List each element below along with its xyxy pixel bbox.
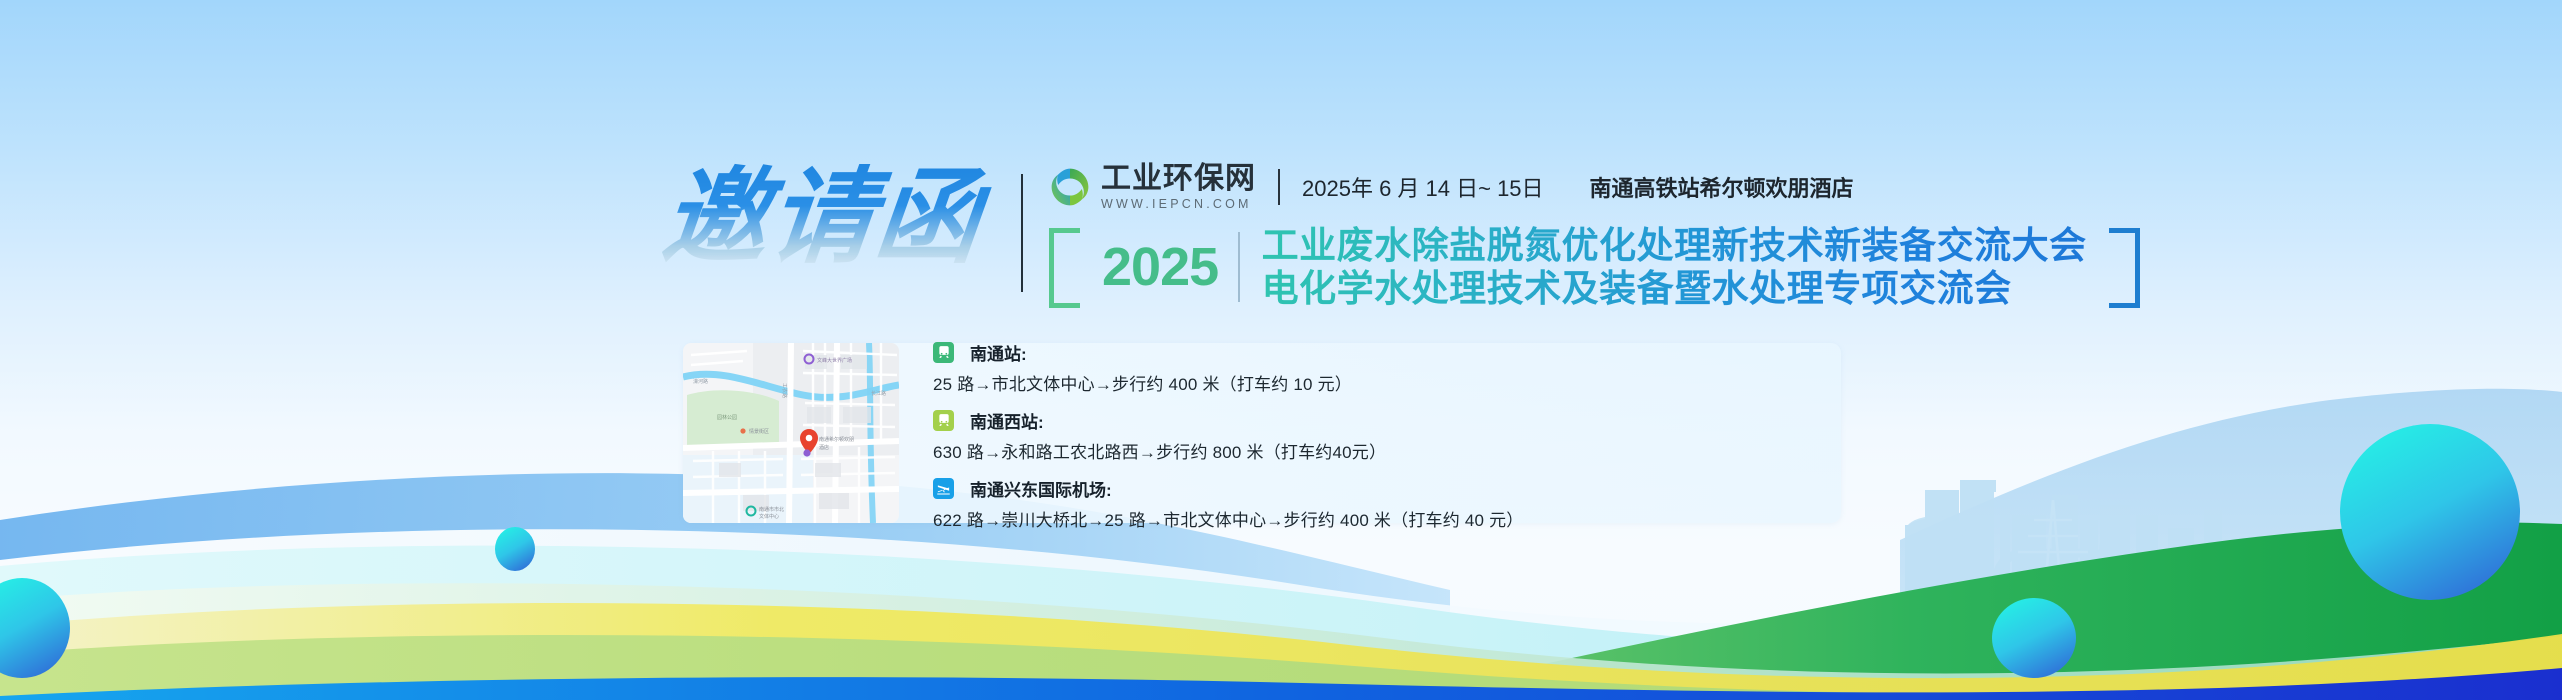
conference-line-2: 电化学水处理技术及装备暨水处理专项交流会 [1262,267,2087,310]
sphere-small [495,527,535,571]
meta-divider [1278,169,1280,205]
sphere-large [2340,424,2520,600]
svg-text:工农路: 工农路 [781,383,788,398]
route-detail: 630 路→永和路工农北路西→步行约 800 米（打车约40元） [933,438,1841,463]
route-name: 南通站: [970,340,1027,365]
leaf-circle-logo-icon [1049,166,1091,208]
wave-grass [0,635,2562,700]
transit-info-panel: 文峰大世界广场 南通希尔顿欢朋 酒店 园林公园 情景街区 南通市市北 文体中心 … [683,343,1841,523]
conference-title-row: 2025 工业废水除盐脱氮优化处理新技术新装备交流大会 电化学水处理技术及装备暨… [1049,224,2140,310]
hill-green [1380,523,2562,700]
svg-text:南通市市北: 南通市市北 [759,506,784,513]
svg-text:南通希尔顿欢朋: 南通希尔顿欢朋 [819,436,854,443]
route-detail: 622 路→崇川大桥北→25 路→市北文体中心→步行约 400 米（打车约 40… [933,506,1841,531]
route-item-nantong-west-station: 南通西站: [933,408,1841,433]
event-year: 2025 [1080,224,1238,310]
event-venue: 南通高铁站希尔顿欢朋酒店 [1590,171,1854,203]
route-detail: 25 路→市北文体中心→步行约 400 米（打车约 10 元） [933,370,1841,395]
invitation-banner: 邀请函 [0,0,2562,700]
route-name: 南通兴东国际机场: [970,476,1112,501]
route-item-nantong-station: 南通站: [933,340,1841,365]
map-thumbnail[interactable]: 文峰大世界广场 南通希尔顿欢朋 酒店 园林公园 情景街区 南通市市北 文体中心 … [683,343,899,523]
logo-name: 工业环保网 [1101,164,1256,194]
train-icon [933,410,954,431]
logo-url: WWW.IEPCN.COM [1101,198,1256,211]
svg-text:园林公园: 园林公园 [717,414,737,421]
svg-text:酒店: 酒店 [819,444,829,451]
route-list: 南通站: 25 路→市北文体中心→步行约 400 米（打车约 10 元） 南通西… [899,343,1841,523]
wave-yellow [0,603,2562,700]
route-name: 南通西站: [970,408,1044,433]
svg-text:文峰大世界广场: 文峰大世界广场 [817,357,852,364]
airplane-icon [933,478,954,499]
route-item-xingdong-airport: 南通兴东国际机场: [933,476,1841,501]
conference-line-1: 工业废水除盐脱氮优化处理新技术新装备交流大会 [1262,224,2087,267]
event-date: 2025年 6 月 14 日~ 15日 [1302,171,1544,203]
header-divider [1021,174,1023,292]
svg-text:长江路: 长江路 [871,390,886,397]
bracket-left [1049,228,1080,308]
bracket-right [2109,228,2140,308]
train-icon [933,342,954,363]
wave-mint [0,583,2562,700]
conference-lines: 工业废水除盐脱氮优化处理新技术新装备交流大会 电化学水处理技术及装备暨水处理专项… [1240,224,2109,310]
svg-text:文体中心: 文体中心 [759,513,779,520]
wave-cyan [0,546,2562,700]
industry-silhouette [1905,480,2222,652]
hill-light-blue [1900,389,2562,700]
map-thumbnail-graphic: 文峰大世界广场 南通希尔顿欢朋 酒店 园林公园 情景街区 南通市市北 文体中心 … [683,343,899,523]
svg-text:情景街区: 情景街区 [749,428,769,435]
sphere-edge [0,578,70,678]
svg-text:濠河路: 濠河路 [693,378,708,385]
wave-blue-bottom [0,668,2562,700]
invitation-title: 邀请函 [657,160,1000,280]
wave-white [0,529,2562,700]
banner-header: 邀请函 [663,160,2140,310]
sphere-medium [1992,598,2076,678]
header-right-column: 工业环保网 WWW.IEPCN.COM 2025年 6 月 14 日~ 15日 … [1049,160,2140,310]
logo-text: 工业环保网 WWW.IEPCN.COM [1101,164,1256,211]
site-logo[interactable]: 工业环保网 WWW.IEPCN.COM [1049,164,1256,211]
meta-row: 工业环保网 WWW.IEPCN.COM 2025年 6 月 14 日~ 15日 … [1049,164,2140,210]
